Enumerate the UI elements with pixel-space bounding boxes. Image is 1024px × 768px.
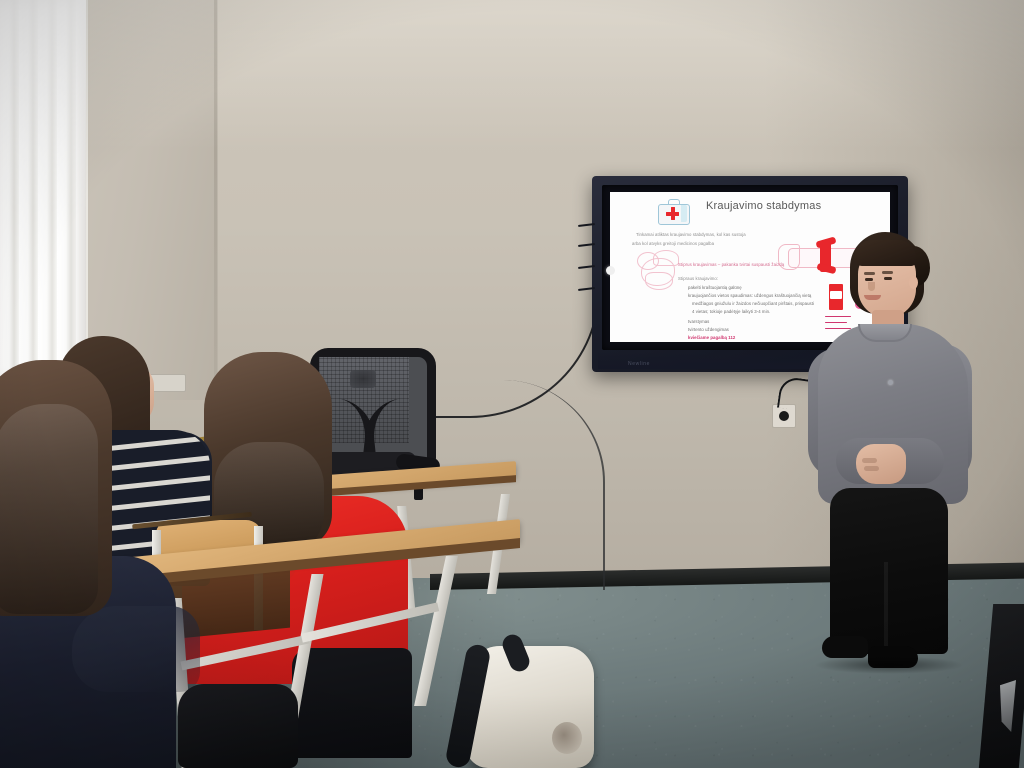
hand-wrist-shape [645, 272, 673, 290]
slide-bullet-7: kviečiame pagalbą 112 [688, 335, 735, 340]
socket-hole [779, 411, 789, 421]
presenter-finger-1 [862, 458, 877, 463]
kit-side-shape [681, 205, 687, 222]
first-aid-kit-icon [658, 198, 688, 223]
slide-bullet-1: pakelti kraštuojantią galūnę [688, 285, 742, 290]
presenter-finger-2 [864, 466, 879, 471]
slide-bullet-5: tvarstymas [688, 319, 709, 324]
presenter-shoe-left [822, 636, 868, 658]
presenter-trousers [830, 488, 948, 654]
hand-illustration [635, 248, 683, 290]
hand-fingers-shape [653, 250, 679, 266]
blinds-highlight [0, 0, 86, 382]
backpack[interactable] [452, 632, 600, 768]
pen-hook-3[interactable] [578, 265, 595, 269]
backpack-patch [552, 722, 582, 754]
presenter-pin [888, 380, 893, 385]
ir-sensor-dot [606, 266, 615, 275]
red-cross-horizontal [666, 212, 679, 216]
slide-intro-line-1: Tinkamai atliktas kraujavimo stabdymas, … [636, 232, 746, 237]
pen-hook-2[interactable] [578, 243, 595, 247]
slide-list-heading: Stipraus kraujavimo: [678, 276, 718, 281]
presenter-hands [856, 444, 906, 484]
slide-bullet-4: 4 vietas; tokioje padėtyje laikyti 3-4 m… [692, 309, 770, 314]
desk-front-crossbar-2 [301, 602, 439, 642]
presenter-hair-front [854, 240, 916, 266]
presenter-brow-left [864, 272, 875, 275]
presenter-nose [868, 282, 875, 291]
classroom-scene: Kraujavimo stabdymas Tinkamai atliktas k… [0, 0, 1024, 768]
wall-shading-top [0, 0, 1024, 150]
window-frame [0, 0, 88, 392]
student-navy-arm [72, 606, 200, 692]
pen-hook-1[interactable] [578, 223, 595, 227]
presenter-eye-left [865, 278, 873, 281]
screen-brand-label: Newline [628, 361, 650, 367]
presenter-ear [909, 276, 918, 289]
slide-subheading: Stiprus kraujavimas – pakanka tvirtai su… [678, 262, 784, 267]
slide-intro-line-2: arba kol atvyks greitoji medicinos pagal… [632, 241, 714, 246]
dark-bag[interactable] [178, 684, 298, 768]
presenter-leg-seam [884, 562, 888, 654]
presenter-mouth [864, 295, 881, 300]
student-navy-hair-highlight [0, 404, 98, 614]
presenter-floor-shadow [814, 656, 964, 674]
slide-bullet-6: tvirtento uždengimas [688, 327, 729, 332]
presenter-brow-right [882, 271, 893, 274]
presenter-teacher [796, 232, 972, 672]
slide-title: Kraujavimo stabdymas [706, 200, 821, 212]
student-foreground-navy [0, 360, 170, 768]
presenter-eye-right [884, 277, 892, 280]
slide-bullet-2: kraujuojančios vietos spaudimas: uždengu… [688, 293, 811, 298]
pen-tray[interactable] [578, 224, 596, 304]
pen-hook-4[interactable] [578, 287, 595, 291]
